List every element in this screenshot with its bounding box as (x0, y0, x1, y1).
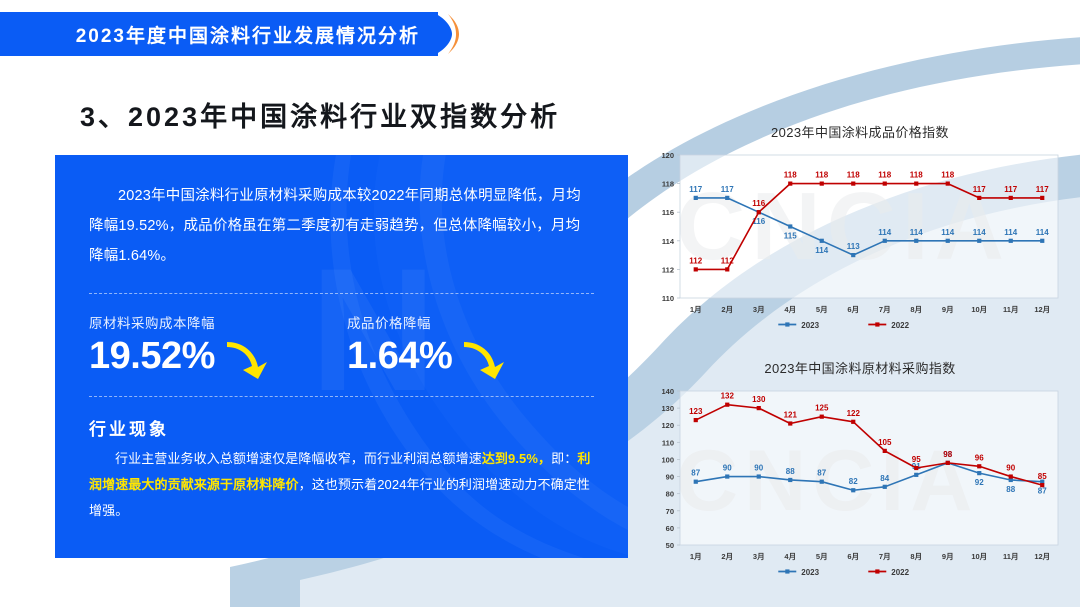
panel-paragraph-2: 行业主营业务收入总额增速仅是降幅收窄，而行业利润总额增速达到9.5%，即：利润增… (89, 446, 594, 524)
panel-paragraph-1: 2023年中国涂料行业原材料采购成本较2022年同期总体明显降低，月均降幅19.… (89, 181, 594, 271)
chart-title: 2023年中国涂料成品价格指数 (650, 122, 1070, 141)
svg-text:3月: 3月 (753, 552, 765, 561)
svg-text:8月: 8月 (910, 552, 922, 561)
page-title: 3、2023年中国涂料行业双指数分析 (80, 95, 560, 134)
svg-text:114: 114 (815, 246, 828, 255)
para2-seg-2: 即： (551, 451, 577, 466)
svg-text:132: 132 (721, 392, 735, 401)
svg-text:6月: 6月 (847, 305, 859, 314)
svg-text:118: 118 (784, 171, 797, 180)
chart-canvas: 1101121141161181201月2月3月4月5月6月7月8月9月10月1… (650, 141, 1070, 346)
svg-text:60: 60 (666, 524, 674, 533)
svg-text:105: 105 (878, 438, 892, 447)
svg-text:12月: 12月 (1034, 552, 1050, 561)
slide-root: 2023年度中国涂料行业发展情况分析 3、2023年中国涂料行业双指数分析 N … (0, 0, 1080, 607)
svg-text:117: 117 (689, 185, 702, 194)
svg-text:5月: 5月 (816, 552, 828, 561)
svg-text:112: 112 (721, 256, 734, 265)
svg-text:120: 120 (661, 151, 674, 160)
summary-panel: N 2023年中国涂料行业原材料采购成本较2022年同期总体明显降低，月均降幅1… (55, 155, 628, 558)
svg-text:87: 87 (1038, 487, 1047, 496)
svg-text:2月: 2月 (721, 305, 733, 314)
svg-text:1月: 1月 (690, 305, 702, 314)
svg-text:117: 117 (973, 185, 986, 194)
svg-text:121: 121 (784, 411, 798, 420)
svg-text:84: 84 (880, 474, 889, 483)
panel-divider-bottom (89, 396, 594, 397)
svg-text:114: 114 (878, 228, 891, 237)
svg-text:5月: 5月 (816, 305, 828, 314)
svg-text:12月: 12月 (1034, 305, 1050, 314)
svg-text:115: 115 (784, 232, 797, 241)
svg-text:96: 96 (975, 453, 984, 462)
svg-text:2022: 2022 (891, 321, 909, 330)
svg-text:2023: 2023 (801, 321, 819, 330)
svg-text:10月: 10月 (971, 552, 987, 561)
svg-text:7月: 7月 (879, 305, 891, 314)
metric-value: 1.64% (347, 337, 452, 377)
svg-text:9月: 9月 (942, 552, 954, 561)
svg-text:9月: 9月 (942, 305, 954, 314)
svg-text:130: 130 (752, 395, 766, 404)
svg-text:113: 113 (847, 242, 860, 251)
svg-text:118: 118 (910, 171, 923, 180)
svg-text:125: 125 (815, 404, 829, 413)
svg-text:95: 95 (912, 455, 921, 464)
svg-text:3月: 3月 (753, 305, 765, 314)
svg-text:118: 118 (941, 171, 954, 180)
svg-text:88: 88 (786, 467, 795, 476)
svg-text:110: 110 (662, 438, 674, 447)
svg-text:117: 117 (1036, 185, 1049, 194)
chart-title: 2023年中国涂料原材料采购指数 (650, 358, 1070, 377)
header-banner: 2023年度中国涂料行业发展情况分析 (0, 12, 438, 56)
svg-text:90: 90 (754, 464, 763, 473)
metrics-row: 原材料采购成本降幅 19.52% 成品价格降幅 1.64% (89, 312, 594, 380)
metric-label: 原材料采购成本降幅 (89, 312, 347, 332)
svg-text:92: 92 (975, 478, 984, 487)
svg-text:130: 130 (661, 404, 674, 413)
svg-text:123: 123 (689, 407, 703, 416)
svg-text:4月: 4月 (784, 552, 796, 561)
svg-text:116: 116 (662, 208, 674, 217)
svg-text:70: 70 (666, 507, 674, 516)
svg-text:6月: 6月 (847, 552, 859, 561)
chart-canvas: 50607080901001101201301401月2月3月4月5月6月7月8… (650, 377, 1070, 595)
svg-text:87: 87 (817, 469, 826, 478)
svg-text:114: 114 (662, 237, 675, 246)
svg-text:82: 82 (849, 477, 858, 486)
svg-text:90: 90 (723, 464, 732, 473)
metric-finished-price: 成品价格降幅 1.64% (347, 312, 587, 380)
svg-text:80: 80 (666, 490, 674, 499)
svg-text:116: 116 (752, 199, 765, 208)
phenomenon-heading: 行业现象 (89, 415, 594, 440)
svg-text:114: 114 (1004, 228, 1017, 237)
chart-raw-material-purchase-index: 2023年中国涂料原材料采购指数 50607080901001101201301… (650, 358, 1070, 598)
svg-text:100: 100 (661, 455, 674, 464)
panel-divider-top (89, 293, 594, 294)
chart-finished-goods-price-index: 2023年中国涂料成品价格指数 1101121141161181201月2月3月… (650, 122, 1070, 347)
metric-value: 19.52% (89, 337, 215, 377)
svg-text:11月: 11月 (1003, 305, 1018, 314)
svg-text:118: 118 (815, 171, 828, 180)
svg-text:110: 110 (662, 294, 674, 303)
svg-text:117: 117 (721, 185, 734, 194)
svg-text:114: 114 (910, 228, 923, 237)
svg-text:90: 90 (666, 473, 674, 482)
svg-text:118: 118 (878, 171, 891, 180)
down-arrow-icon (462, 340, 506, 380)
svg-text:90: 90 (1006, 464, 1015, 473)
svg-text:87: 87 (691, 469, 700, 478)
metric-label: 成品价格降幅 (347, 312, 587, 332)
svg-text:50: 50 (666, 541, 674, 550)
svg-text:2月: 2月 (721, 552, 733, 561)
svg-text:118: 118 (847, 171, 860, 180)
svg-text:4月: 4月 (784, 305, 796, 314)
svg-text:112: 112 (662, 265, 674, 274)
svg-text:114: 114 (973, 228, 986, 237)
svg-text:7月: 7月 (879, 552, 891, 561)
svg-text:140: 140 (661, 387, 674, 396)
svg-text:11月: 11月 (1003, 552, 1018, 561)
svg-text:114: 114 (1036, 228, 1049, 237)
svg-text:8月: 8月 (910, 305, 922, 314)
svg-text:117: 117 (1004, 185, 1017, 194)
svg-text:2022: 2022 (891, 568, 909, 577)
para2-seg-1: 达到9.5%， (482, 451, 551, 466)
svg-text:98: 98 (943, 450, 952, 459)
svg-text:118: 118 (662, 180, 674, 189)
svg-text:1月: 1月 (690, 552, 702, 561)
svg-text:85: 85 (1038, 472, 1047, 481)
para2-seg-0: 行业主营业务收入总额增速仅是降幅收窄，而行业利润总额增速 (115, 451, 482, 466)
svg-text:10月: 10月 (971, 305, 987, 314)
svg-text:122: 122 (847, 409, 861, 418)
svg-text:2023: 2023 (801, 568, 819, 577)
down-arrow-icon (225, 340, 269, 380)
header-banner-title: 2023年度中国涂料行业发展情况分析 (76, 21, 420, 48)
svg-text:112: 112 (689, 256, 702, 265)
svg-text:114: 114 (941, 228, 954, 237)
metric-raw-material-cost: 原材料采购成本降幅 19.52% (89, 312, 347, 380)
svg-text:88: 88 (1006, 485, 1015, 494)
panel-content: 2023年中国涂料行业原材料采购成本较2022年同期总体明显降低，月均降幅19.… (55, 155, 628, 558)
svg-text:120: 120 (661, 421, 674, 430)
